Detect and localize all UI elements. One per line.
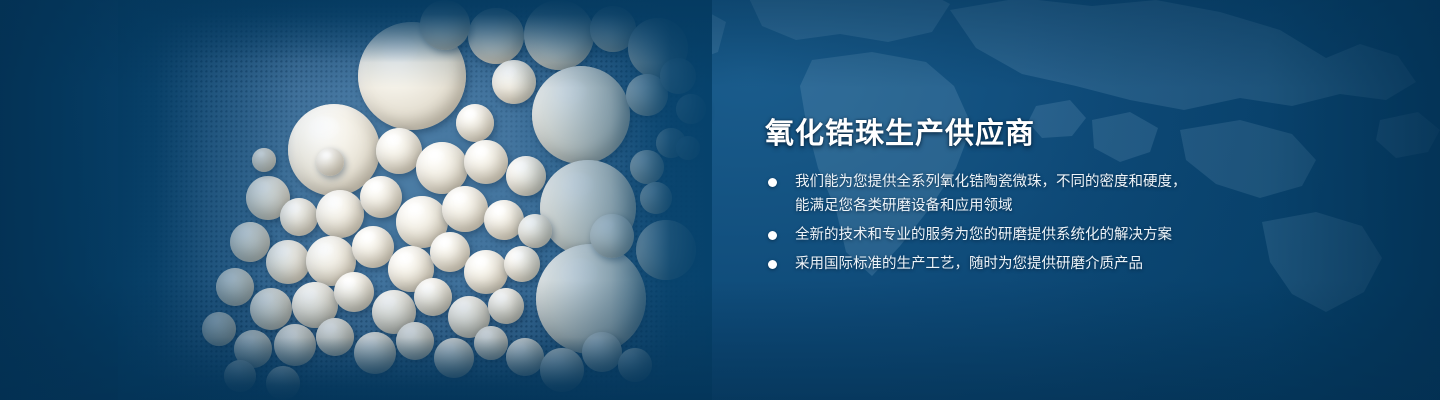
list-item: 全新的技术和专业的服务为您的研磨提供系统化的解决方案 <box>768 223 1187 247</box>
list-item-line: 采用国际标准的生产工艺，随时为您提供研磨介质产品 <box>795 252 1187 276</box>
list-item: 我们能为您提供全系列氧化锆陶瓷微珠，不同的密度和硬度， 能满足您各类研磨设备和应… <box>768 170 1187 218</box>
banner-copy: 氧化锆珠生产供应商 我们能为您提供全系列氧化锆陶瓷微珠，不同的密度和硬度， 能满… <box>765 0 1365 400</box>
list-item-line: 全新的技术和专业的服务为您的研磨提供系统化的解决方案 <box>795 223 1187 247</box>
page-title: 氧化锆珠生产供应商 <box>765 110 1035 152</box>
bullet-dot-icon <box>768 260 777 269</box>
feature-list: 我们能为您提供全系列氧化锆陶瓷微珠，不同的密度和硬度， 能满足您各类研磨设备和应… <box>768 170 1187 281</box>
list-item-line: 能满足您各类研磨设备和应用领域 <box>795 194 1187 218</box>
list-item-line: 我们能为您提供全系列氧化锆陶瓷微珠，不同的密度和硬度， <box>795 170 1187 194</box>
hero-banner: 氧化锆珠生产供应商 我们能为您提供全系列氧化锆陶瓷微珠，不同的密度和硬度， 能满… <box>0 0 1440 400</box>
bullet-dot-icon <box>768 178 777 187</box>
bullet-dot-icon <box>768 231 777 240</box>
list-item: 采用国际标准的生产工艺，随时为您提供研磨介质产品 <box>768 252 1187 276</box>
